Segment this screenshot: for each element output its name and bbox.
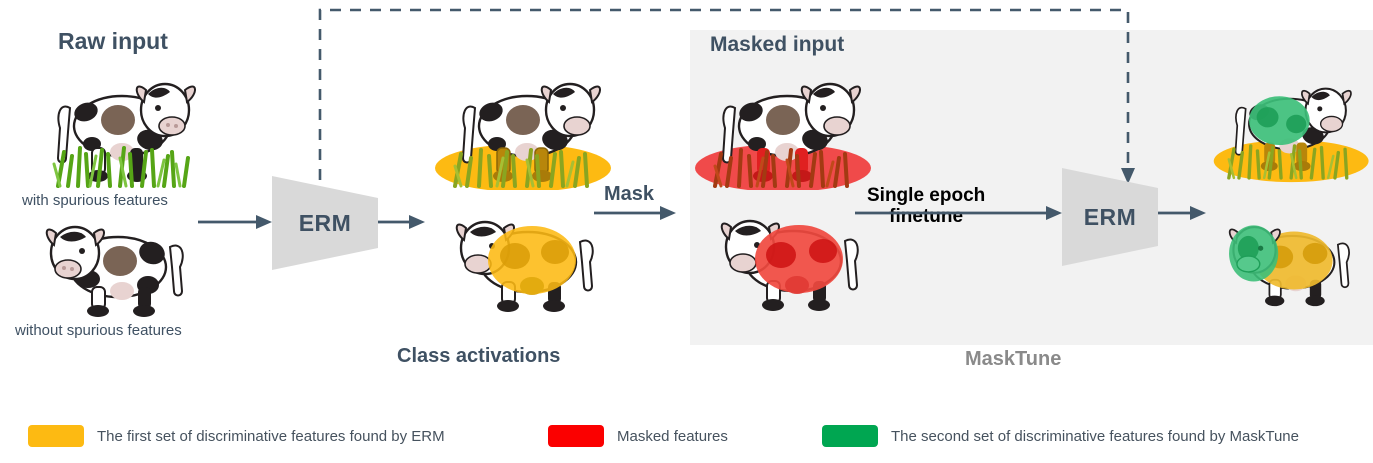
legend-swatch-yellow	[28, 425, 84, 447]
legend-label-masktune: The second set of discriminative feature…	[891, 428, 1299, 445]
erm-block-1-label: ERM	[272, 176, 378, 270]
legend-label-erm: The first set of discriminative features…	[97, 428, 445, 445]
flow-arrows	[0, 0, 1373, 463]
erm-block-2[interactable]: ERM	[1062, 168, 1158, 266]
erm-block-2-label: ERM	[1062, 168, 1158, 266]
erm-block-1[interactable]: ERM	[272, 176, 378, 270]
legend-label-masked: Masked features	[617, 428, 728, 445]
legend-item-erm: The first set of discriminative features…	[28, 425, 445, 447]
legend-swatch-green	[822, 425, 878, 447]
legend-item-masktune: The second set of discriminative feature…	[822, 425, 1299, 447]
legend-swatch-red	[548, 425, 604, 447]
legend-item-masked: Masked features	[548, 425, 728, 447]
